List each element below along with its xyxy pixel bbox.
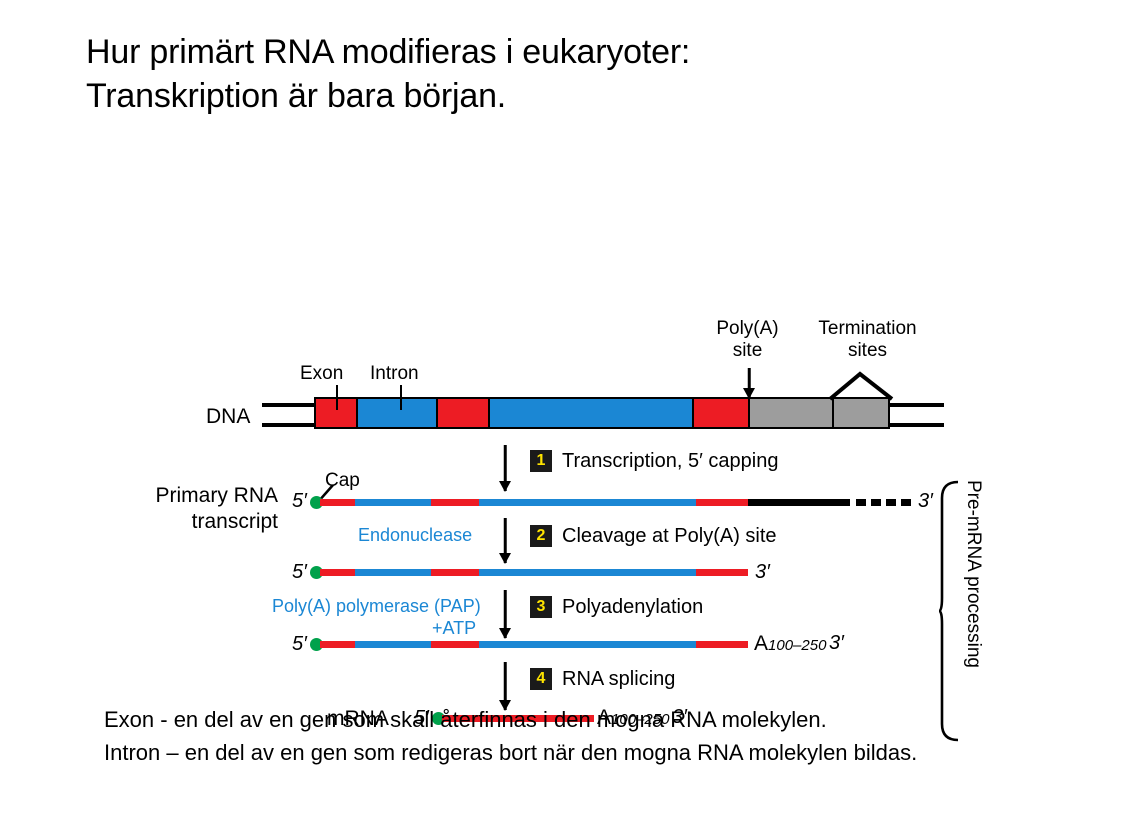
exon-leader-line [336, 385, 338, 410]
rna2-3prime: 3′ [755, 561, 770, 584]
primary-rna-transcript-label: Primary RNA transcript [130, 483, 278, 535]
termination-label-line-1: Termination [818, 318, 916, 339]
dna-strand-left-bottom [262, 423, 316, 427]
dna-downstream-1 [748, 397, 834, 429]
polya-site-label: Poly(A) site [700, 318, 795, 362]
polya-site-label-line-1: Poly(A) [716, 318, 778, 339]
step-3-enzyme-label-2: +ATP [432, 618, 476, 639]
polya-site-label-line-2: site [733, 340, 763, 361]
primary-rna-dash-1 [856, 499, 866, 506]
rna3-polya-subscript: 100–250 [768, 637, 826, 654]
rna2-exon-3 [696, 569, 748, 576]
dna-intron-2 [488, 397, 694, 429]
rna-processing-diagram: DNA Exon Intron Poly(A) site [0, 150, 1140, 620]
dna-strand-left-top [262, 403, 316, 407]
step-3-badge: 3 [530, 596, 552, 618]
termination-chevron-icon [826, 371, 898, 401]
page-title: Hur primärt RNA modifieras i eukaryoter:… [86, 30, 986, 118]
caption: Exon - en del av en gen som skall återfi… [104, 703, 1064, 769]
rna2-5prime: 5′ [292, 561, 307, 584]
step-1-badge: 1 [530, 450, 552, 472]
step-2-enzyme-label: Endonuclease [358, 525, 472, 546]
dna-downstream-2 [832, 397, 890, 429]
caption-line-intron: Intron – en del av en gen som redigeras … [104, 736, 1064, 769]
primary-rna-dash-2 [871, 499, 881, 506]
rna3-polya-tail-label: A100–250 [754, 632, 826, 656]
termination-sites-label: Termination sites [815, 318, 920, 362]
primary-rna-dash-3 [886, 499, 896, 506]
primary-rna-strand [320, 499, 850, 506]
dna-strand-right-top [888, 403, 944, 407]
exon-label: Exon [300, 363, 343, 385]
termination-label-line-2: sites [848, 340, 887, 361]
rna2-intron-1 [355, 569, 431, 576]
step-4-text: RNA splicing [562, 668, 675, 691]
rna3-5prime: 5′ [292, 633, 307, 656]
title-line-2: Transkription är bara början. [86, 74, 986, 118]
step-2-text: Cleavage at Poly(A) site [562, 525, 777, 548]
dna-strand-right-bottom [888, 423, 944, 427]
rna1-intron-2 [479, 499, 696, 506]
rna2-exon-2 [431, 569, 479, 576]
rna1-exon-2 [431, 499, 479, 506]
rna2-strand [320, 569, 748, 576]
primary-rna-5prime: 5′ [292, 490, 307, 513]
intron-label: Intron [370, 363, 419, 385]
rna1-downstream [748, 499, 850, 506]
polya-site-arrow [742, 368, 756, 398]
rna3-3prime: 3′ [829, 632, 844, 655]
rna3-exon-3 [696, 641, 748, 648]
rna2-exon-1 [320, 569, 355, 576]
step-2-badge: 2 [530, 525, 552, 547]
slide: Hur primärt RNA modifieras i eukaryoter:… [0, 0, 1140, 824]
dna-exon-3 [692, 397, 750, 429]
rna3-intron-2 [479, 641, 696, 648]
step-4-badge: 4 [530, 668, 552, 690]
rna3-intron-1 [355, 641, 431, 648]
primary-rna-label-line-2: transcript [192, 510, 278, 533]
rna3-polya-a: A [754, 632, 768, 655]
rna1-exon-1 [320, 499, 355, 506]
intron-leader-line [400, 385, 402, 410]
primary-rna-dash-4 [901, 499, 911, 506]
caption-line-exon: Exon - en del av en gen som skall återfi… [104, 703, 1064, 736]
primary-rna-label-line-1: Primary RNA [155, 484, 278, 507]
dna-intron-1 [356, 397, 438, 429]
step-3-text: Polyadenylation [562, 596, 703, 619]
step-1-text: Transcription, 5′ capping [562, 450, 778, 473]
rna3-strand [320, 641, 748, 648]
rna1-intron-1 [355, 499, 431, 506]
title-line-1: Hur primärt RNA modifieras i eukaryoter: [86, 30, 986, 74]
dna-label: DNA [206, 405, 250, 429]
step-3-enzyme-label: Poly(A) polymerase (PAP) [272, 596, 481, 617]
primary-rna-3prime: 3′ [918, 490, 933, 513]
rna3-exon-2 [431, 641, 479, 648]
rna1-exon-3 [696, 499, 748, 506]
rna3-exon-1 [320, 641, 355, 648]
dna-exon-2 [436, 397, 490, 429]
rna2-intron-2 [479, 569, 696, 576]
